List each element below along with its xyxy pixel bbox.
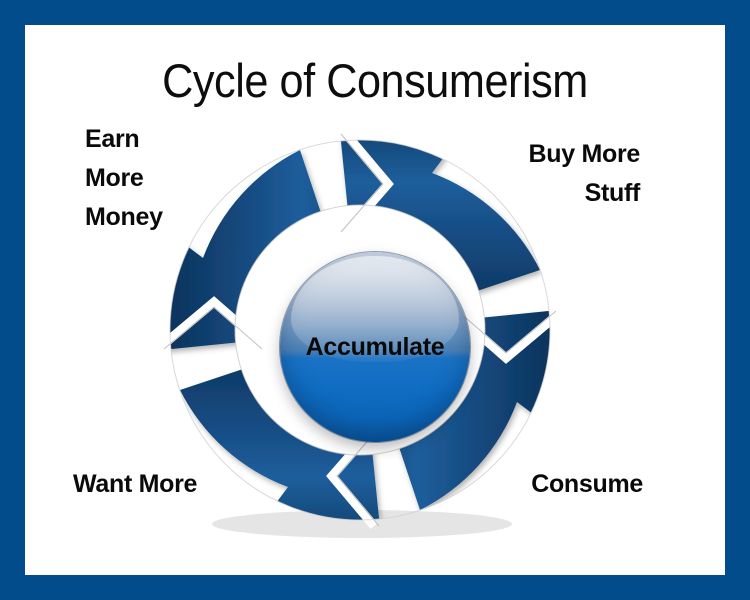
center-sphere-label: Accumulate <box>280 252 470 442</box>
center-sphere[interactable]: Accumulate <box>280 252 470 442</box>
cycle-label-earn-more-money[interactable]: Earn More Money <box>85 120 255 237</box>
diagram-canvas: Cycle of Consumerism <box>25 25 725 575</box>
cycle-label-want-more[interactable]: Want More <box>73 465 283 504</box>
cycle-label-consume[interactable]: Consume <box>455 465 643 504</box>
cycle-label-buy-more-stuff[interactable]: Buy More Stuff <box>415 135 640 213</box>
cycle-diagram: Accumulate Earn More Money Buy More Stuf… <box>25 25 725 575</box>
image-frame: Cycle of Consumerism <box>0 0 750 600</box>
